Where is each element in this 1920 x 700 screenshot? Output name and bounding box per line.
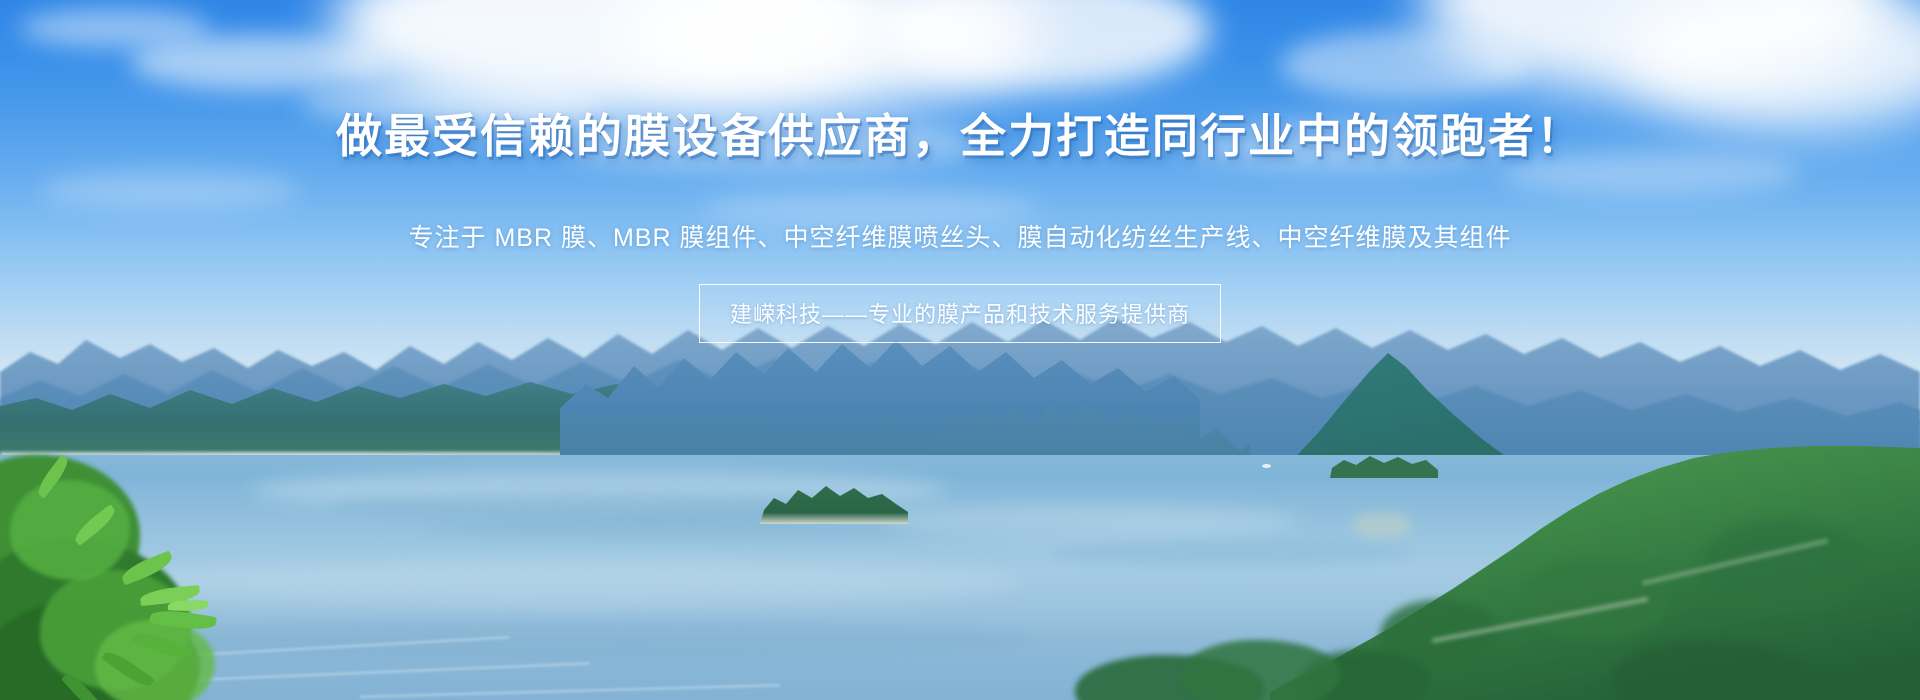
hillside-clearing (1352, 512, 1412, 538)
hero-banner: 做最受信赖的膜设备供应商，全力打造同行业中的领跑者！ 专注于 MBR 膜、MBR… (0, 0, 1920, 700)
cloud-icon (20, 8, 210, 48)
cloud-icon (1280, 30, 1530, 100)
banner-subheadline: 专注于 MBR 膜、MBR 膜组件、中空纤维膜喷丝头、膜自动化纺丝生产线、中空纤… (0, 218, 1920, 254)
wooded-island (760, 476, 910, 524)
water-highlight (880, 505, 1300, 539)
shore-foliage (1180, 640, 1340, 700)
foreground-tree-foliage (10, 480, 130, 580)
cloud-icon (40, 170, 300, 210)
banner-tagline-container: 建嵘科技——专业的膜产品和技术服务提供商 (0, 284, 1920, 343)
water-highlight (120, 560, 1020, 606)
banner-headline: 做最受信赖的膜设备供应商，全力打造同行业中的领跑者！ (0, 100, 1920, 166)
hillside-tree-clump (1700, 520, 1870, 615)
banner-tagline: 建嵘科技——专业的膜产品和技术服务提供商 (699, 284, 1221, 343)
